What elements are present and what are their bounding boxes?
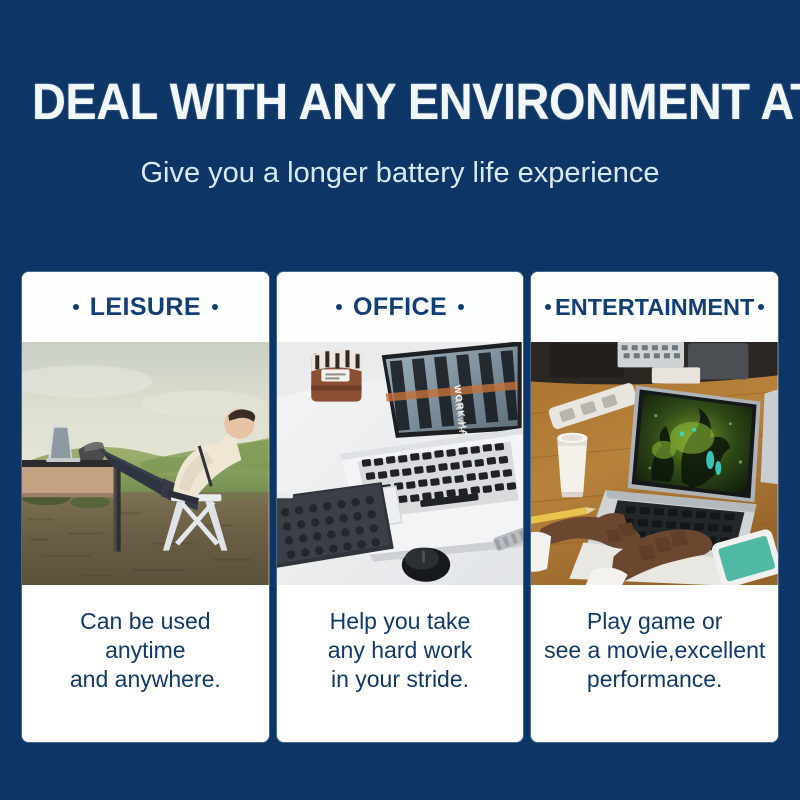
caption-line: Help you take <box>328 607 472 636</box>
caption-line: see a movie,excellent <box>544 636 765 665</box>
feature-card-row: LEISURE <box>22 272 778 742</box>
caption-line: Can be used <box>70 607 221 636</box>
bullet-dot-icon <box>336 304 342 310</box>
caption-line: performance. <box>544 665 765 694</box>
caption-line: any hard work <box>328 636 472 665</box>
card-caption-entertainment: Play game or see a movie,excellent perfo… <box>531 585 778 742</box>
card-title-entertainment: ENTERTAINMENT <box>531 272 778 342</box>
card-title-leisure: LEISURE <box>22 272 269 342</box>
caption-line: and anywhere. <box>70 665 221 694</box>
caption-line: Play game or <box>544 607 765 636</box>
photo-white-laptop-on-desk-with-keyboard: WORK HARD ANYWHERE <box>277 342 524 585</box>
entertainment-illustration <box>531 342 778 585</box>
office-illustration: WORK HARD ANYWHERE <box>277 342 524 585</box>
bullet-dot-icon <box>458 304 464 310</box>
caption-line: anytime <box>70 636 221 665</box>
card-title-label: ENTERTAINMENT <box>555 294 754 321</box>
promo-poster: DEAL WITH ANY ENVIRONMENT AT EASE Give y… <box>0 0 800 800</box>
feature-card-entertainment[interactable]: ENTERTAINMENT <box>531 272 778 742</box>
bullet-dot-icon <box>73 304 79 310</box>
card-title-label: LEISURE <box>90 293 201 322</box>
feature-card-office[interactable]: OFFICE <box>277 272 524 742</box>
page-subtitle: Give you a longer battery life experienc… <box>0 156 800 190</box>
card-title-office: OFFICE <box>277 272 524 342</box>
bullet-dot-icon <box>212 304 218 310</box>
bullet-dot-icon <box>545 304 551 310</box>
feature-card-leisure[interactable]: LEISURE <box>22 272 269 742</box>
card-caption-leisure: Can be used anytime and anywhere. <box>22 585 269 742</box>
leisure-illustration <box>22 342 269 585</box>
photo-man-reclining-at-desk-in-field <box>22 342 269 585</box>
bullet-dot-icon <box>758 304 764 310</box>
card-caption-office: Help you take any hard work in your stri… <box>277 585 524 742</box>
card-title-label: OFFICE <box>353 293 447 322</box>
photo-hands-typing-on-gaming-laptop <box>531 342 778 585</box>
page-title: DEAL WITH ANY ENVIRONMENT AT EASE <box>32 76 768 128</box>
caption-line: in your stride. <box>328 665 472 694</box>
